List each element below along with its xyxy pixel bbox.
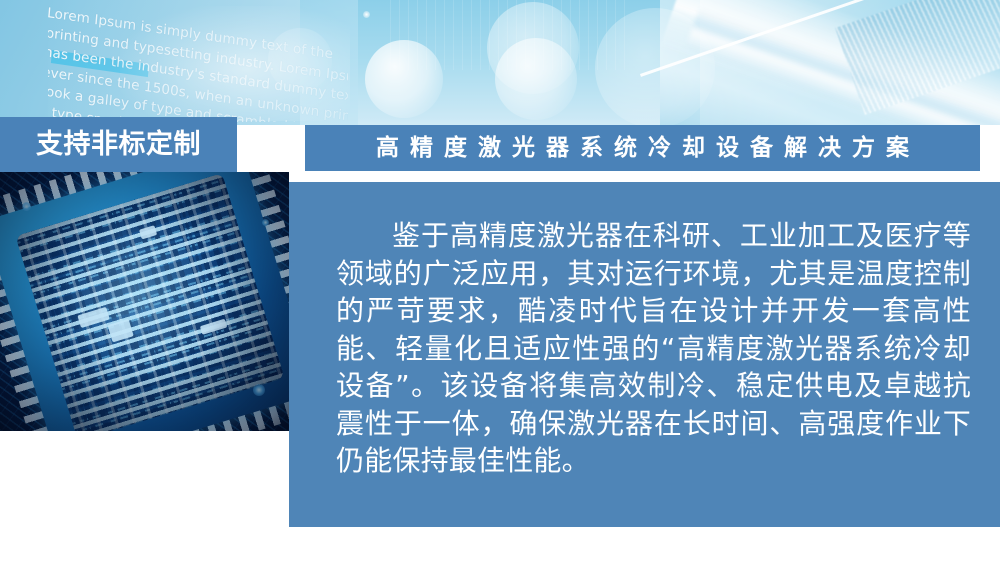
content-panel: 鉴于高精度激光器在科研、工业加工及医疗等领域的广泛应用，其对运行环境，尤其是温度…: [289, 182, 1000, 527]
slide-title-bar: 高精度激光器系统冷却设备解决方案: [305, 125, 980, 171]
content-paragraph: 鉴于高精度激光器在科研、工业加工及医疗等领域的广泛应用，其对运行环境，尤其是温度…: [336, 217, 971, 480]
chip-package: [0, 172, 289, 431]
slide-root: Lorem Ipsum is simply dummy text of the …: [0, 0, 1000, 565]
chip-light-spark: [253, 384, 265, 396]
chip-light-spark: [262, 219, 269, 226]
header-background-image: Lorem Ipsum is simply dummy text of the …: [0, 0, 1000, 125]
custom-support-badge-label: 支持非标定制: [36, 131, 201, 158]
page-title: 高精度激光器系统冷却设备解决方案: [365, 137, 920, 160]
header-line-texture: [390, 0, 630, 70]
chip-light-spark: [22, 202, 31, 211]
microchip-photo: [0, 172, 289, 431]
custom-support-badge: 支持非标定制: [0, 117, 237, 172]
